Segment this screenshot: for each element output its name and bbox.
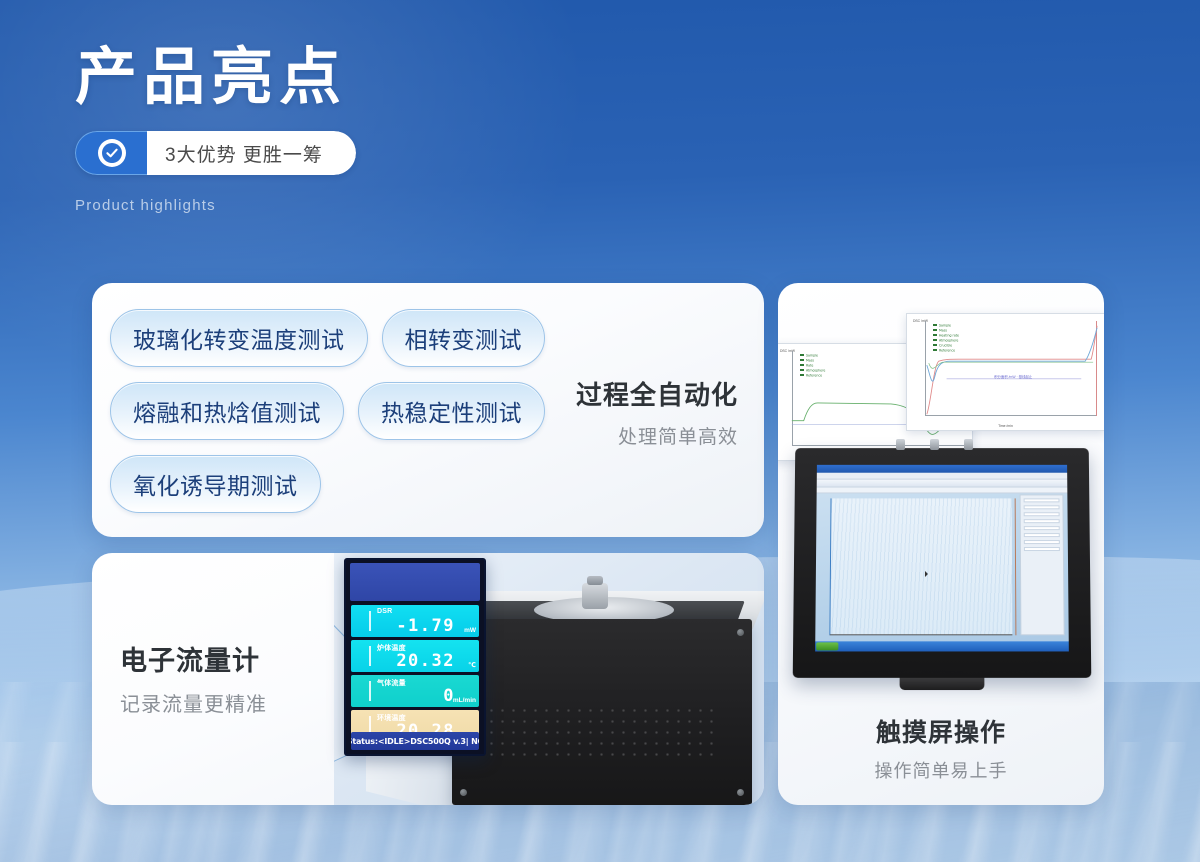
- mouse-cursor-icon: [925, 571, 928, 577]
- controller-panel: DSR -1.79 mW 炉体温度 20.32 ℃ 气体流量 0 mL/min …: [344, 558, 486, 756]
- badge-label: 3大优势 更胜一筹: [147, 131, 356, 175]
- parameter-field[interactable]: [1024, 526, 1060, 530]
- software-toolbar[interactable]: [817, 480, 1068, 488]
- software-plot-area: [829, 498, 1012, 635]
- parameter-field[interactable]: [1024, 512, 1060, 516]
- features-caption-sub: 处理简单高效: [576, 422, 738, 449]
- touchscreen-card: DSC /mW Sample Mass Rate Atmosphere Refe…: [778, 283, 1104, 805]
- feature-pill-group: 玻璃化转变温度测试 相转变测试 熔融和热焓值测试 热稳定性测试 氧化诱导期测试: [110, 309, 570, 528]
- feature-pill[interactable]: 热稳定性测试: [358, 382, 545, 440]
- feature-pill[interactable]: 熔融和热焓值测试: [110, 382, 344, 440]
- panel-bolt: [896, 439, 905, 450]
- parameter-field[interactable]: [1024, 540, 1060, 544]
- parameter-field[interactable]: [1024, 498, 1060, 502]
- touchscreen-caption: 触摸屏操作 操作简单易上手: [778, 713, 1104, 783]
- panel-status-bar: Status:<IDLE>DSC500Q v.3| NC: [351, 732, 479, 750]
- readout-tick: [369, 611, 371, 631]
- software-titlebar: [817, 465, 1067, 473]
- touchscreen-monitor[interactable]: [793, 448, 1092, 678]
- panel-header-bar: [350, 563, 480, 601]
- badge-icon-area: [75, 131, 147, 175]
- monitor-screen[interactable]: [815, 465, 1069, 652]
- start-button-icon[interactable]: [816, 642, 838, 650]
- touchscreen-caption-title: 触摸屏操作: [778, 713, 1104, 749]
- poster-root: 产品亮点 3大优势 更胜一筹 Product highlights 玻璃化转变温…: [0, 0, 1200, 862]
- body-screw: [460, 789, 467, 796]
- feature-pill-row: 氧化诱导期测试: [110, 455, 570, 513]
- features-caption: 过程全自动化 处理简单高效: [576, 375, 738, 449]
- flowmeter-caption: 电子流量计 记录流量更精准: [120, 639, 267, 717]
- monitor-stand: [900, 678, 985, 690]
- flowmeter-caption-sub: 记录流量更精准: [120, 688, 267, 717]
- features-card: 玻璃化转变温度测试 相转变测试 熔融和热焓值测试 热稳定性测试 氧化诱导期测试 …: [92, 283, 764, 537]
- parameter-field[interactable]: [1024, 533, 1060, 537]
- advantage-badge: 3大优势 更胜一筹: [75, 131, 356, 175]
- feature-pill-row: 熔融和热焓值测试 热稳定性测试: [110, 382, 570, 440]
- software-menubar[interactable]: [817, 473, 1067, 480]
- body-screw: [737, 629, 744, 636]
- subtitle-english: Product highlights: [75, 197, 356, 214]
- flowmeter-caption-title: 电子流量计: [120, 639, 267, 678]
- features-caption-title: 过程全自动化: [576, 375, 738, 412]
- feature-pill[interactable]: 相转变测试: [382, 309, 546, 367]
- readout-gas-flow: 气体流量 0 mL/min: [351, 675, 479, 707]
- software-secondary-axis: [1015, 498, 1017, 635]
- software-parameter-panel[interactable]: [1020, 494, 1065, 635]
- readout-value: 20.32: [396, 651, 455, 671]
- readout-label: DSR: [377, 608, 392, 615]
- readout-label: 气体流量: [377, 678, 406, 688]
- software-tabs[interactable]: [817, 488, 1068, 494]
- readout-tick: [369, 681, 371, 701]
- parameter-field[interactable]: [1024, 505, 1060, 509]
- readout-value: -1.79: [396, 616, 455, 636]
- furnace-knob: [582, 583, 608, 609]
- feature-pill[interactable]: 氧化诱导期测试: [110, 455, 321, 513]
- panel-bolt: [964, 439, 973, 450]
- touchscreen-caption-sub: 操作简单易上手: [778, 757, 1104, 783]
- header: 产品亮点 3大优势 更胜一筹 Product highlights: [75, 42, 356, 214]
- windows-taskbar[interactable]: [815, 641, 1069, 651]
- feature-pill[interactable]: 玻璃化转变温度测试: [110, 309, 368, 367]
- chart-printout-right: DSC /mW Time /min 积分面积 /mW · 基线起止 Sample…: [906, 313, 1104, 431]
- readout-unit: mW: [464, 627, 476, 634]
- ventilation-grille: [486, 705, 716, 759]
- page-title: 产品亮点: [75, 42, 356, 113]
- feature-pill-row: 玻璃化转变温度测试 相转变测试: [110, 309, 570, 367]
- readout-furnace-temp: 炉体温度 20.32 ℃: [351, 640, 479, 672]
- parameter-field[interactable]: [1024, 547, 1060, 551]
- check-circle-icon: [98, 139, 126, 167]
- readout-tick: [369, 646, 371, 666]
- printout-curve: [907, 314, 1104, 430]
- panel-bolt: [930, 439, 939, 450]
- readout-dsr: DSR -1.79 mW: [351, 605, 479, 637]
- parameter-field[interactable]: [1024, 519, 1060, 523]
- readout-unit: mL/min: [453, 697, 476, 704]
- body-screw: [737, 789, 744, 796]
- readout-unit: ℃: [468, 661, 476, 669]
